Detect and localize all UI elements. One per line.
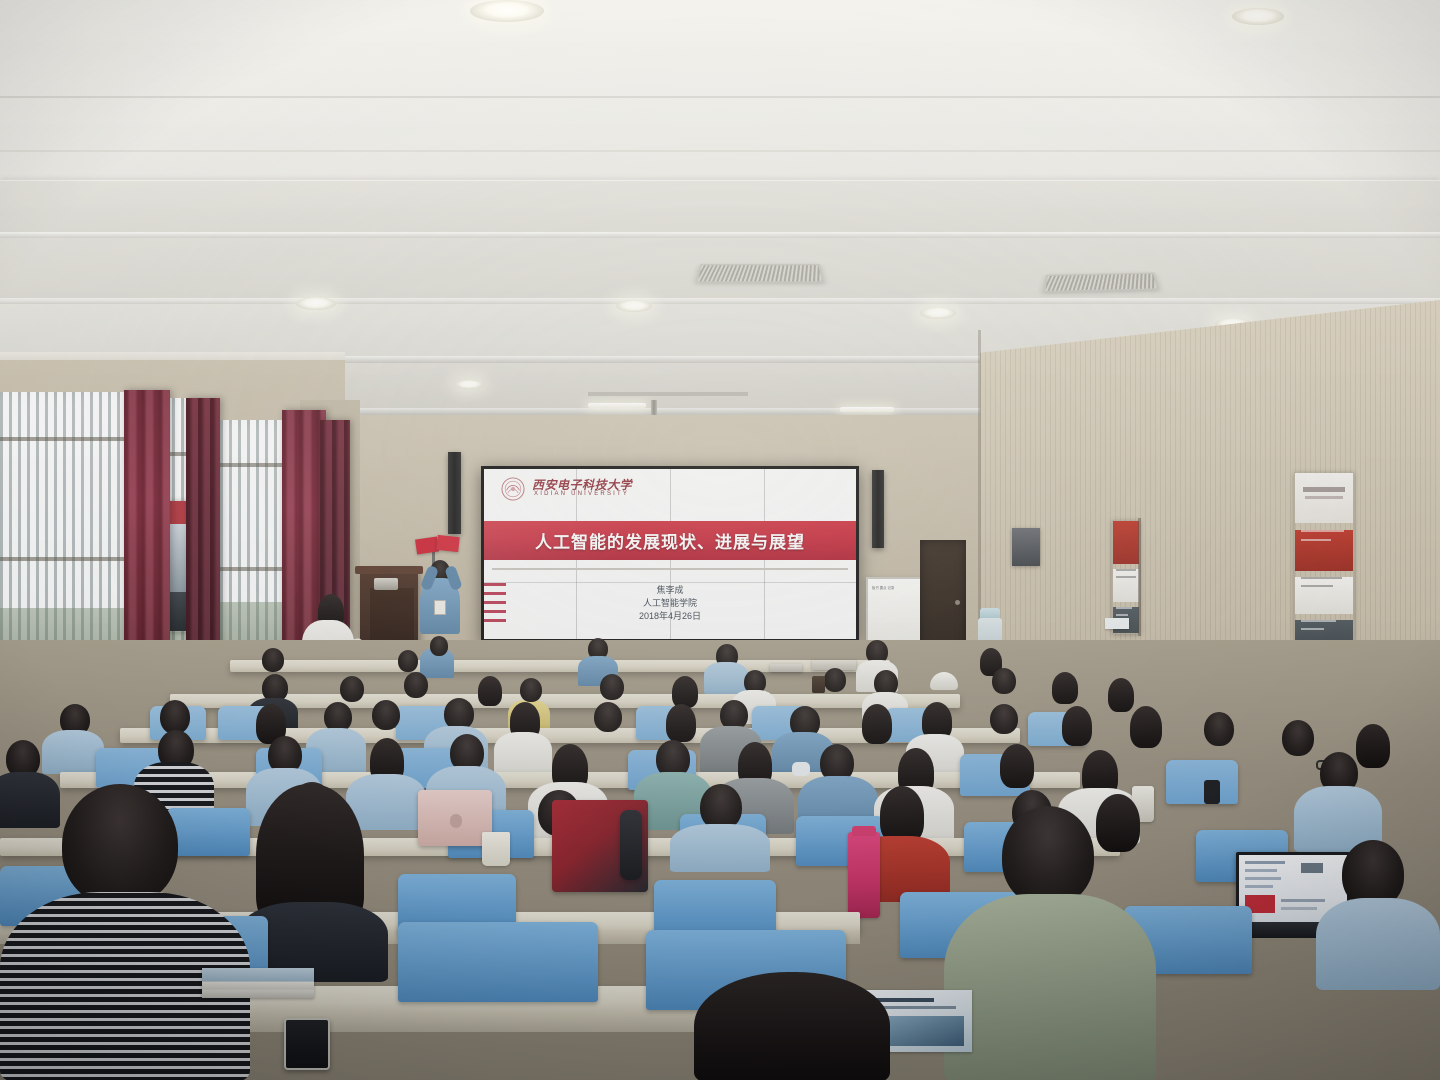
audience-head [992, 668, 1016, 694]
wall-sign-plate [1105, 618, 1129, 629]
poster-left-on-wood-wall [1112, 520, 1140, 634]
podium-top-surface [355, 566, 423, 574]
audience-body [0, 772, 60, 828]
ceiling-downlight [920, 307, 956, 319]
audience-head [520, 678, 542, 702]
foreground-head [694, 972, 890, 1080]
speaker-lanyard-badge [434, 600, 446, 615]
audience-body [42, 730, 104, 774]
book-title-line [872, 998, 934, 1002]
audience-body [704, 662, 748, 694]
poster-left-bracket [1138, 518, 1141, 636]
textbook-stack-foreground [202, 968, 314, 998]
audience-head [1356, 724, 1390, 768]
audience-head [1052, 672, 1078, 704]
seat[interactable] [398, 922, 598, 1002]
red-flag-icon [415, 537, 439, 555]
backpack-strap [620, 810, 642, 880]
audience-head [262, 648, 284, 672]
seat[interactable] [166, 808, 250, 856]
pink-water-bottle [848, 832, 880, 918]
audience-head [372, 700, 400, 730]
ceiling-track-bar [588, 392, 748, 396]
audience-head [1108, 678, 1134, 712]
coffee-cup [812, 676, 825, 693]
door-handle-icon[interactable] [955, 600, 960, 605]
audience-head [1096, 794, 1140, 852]
foreground-head [62, 784, 178, 906]
handheld-phone[interactable] [1204, 780, 1220, 804]
ceiling-downlight [1232, 8, 1284, 25]
audience-head [990, 704, 1018, 734]
audience-head [404, 672, 428, 698]
ceiling-downlight [470, 0, 544, 22]
screen-glare [484, 469, 856, 639]
audience-body-olive [944, 894, 1156, 1080]
ceiling-strip-light [588, 403, 646, 408]
podium-console [370, 588, 414, 648]
audience-head [340, 676, 364, 702]
audience-head [862, 704, 892, 744]
wall-mounted-display [1012, 528, 1040, 566]
audience-head [1130, 706, 1162, 748]
audience-head [594, 702, 622, 732]
lecture-hall-photo: 西安电子科技大学 XIDIAN UNIVERSITY 人工智能的发展现状、进展与… [0, 0, 1440, 1080]
audience-head [1002, 806, 1094, 906]
whiteboard-notes: 板书 要点 记录 [872, 586, 920, 591]
audience-head [160, 700, 190, 734]
audience-head [430, 636, 448, 656]
audience-head [666, 704, 696, 742]
audience-head [824, 668, 846, 692]
audience-head [398, 650, 418, 672]
ceiling-downlight [296, 297, 336, 310]
speaker-column-left [448, 452, 461, 534]
ceiling-strip-light [840, 407, 894, 412]
ceiling-downlight [455, 380, 483, 389]
audience-head [1282, 720, 1314, 756]
audience-body [494, 732, 552, 776]
bottle-cap-icon [852, 826, 876, 836]
hvac-vent [695, 264, 824, 282]
paper-cup [482, 832, 510, 866]
audience-head [478, 676, 502, 706]
audience-body [670, 824, 770, 872]
audience-head [1062, 706, 1092, 746]
speaker-column-right [872, 470, 884, 548]
ceiling-downlight [616, 300, 652, 312]
audience-body [1316, 898, 1440, 990]
audience-head [672, 676, 698, 708]
seat[interactable] [1166, 760, 1238, 804]
hvac-vent [1043, 273, 1159, 293]
audience-head [1000, 744, 1034, 788]
handbag-clasp-icon [450, 814, 462, 828]
red-flag-icon [436, 535, 459, 552]
audience-head [1204, 712, 1234, 746]
poster-right-on-wood-wall [1294, 472, 1354, 642]
podium-laptop [374, 578, 398, 590]
face-mask-icon [792, 762, 810, 776]
smartphone-on-desk[interactable] [284, 1018, 330, 1070]
book-stack [770, 664, 802, 672]
audience-head [600, 674, 624, 700]
